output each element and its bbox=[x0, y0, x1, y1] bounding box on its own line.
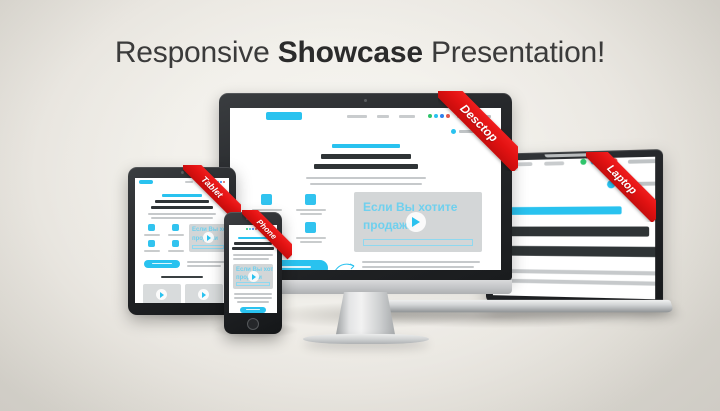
device-phone[interactable]: Если Вы хотите продажи Phone bbox=[224, 212, 282, 334]
nav-item[interactable] bbox=[204, 181, 210, 183]
hero-subtext bbox=[148, 213, 216, 215]
feature-icon-pencil bbox=[305, 222, 316, 233]
cta-note-line bbox=[237, 301, 269, 303]
cta-note-line bbox=[362, 261, 480, 263]
hero-line3 bbox=[493, 245, 655, 257]
feature-icon bbox=[148, 240, 155, 247]
hero-line2 bbox=[321, 154, 411, 159]
hero-line3 bbox=[151, 206, 213, 209]
social-icon[interactable] bbox=[223, 181, 225, 183]
social-icon-tw[interactable] bbox=[434, 114, 438, 118]
site-email bbox=[459, 130, 491, 133]
video-placeholder[interactable]: Если Вы хотите продажи bbox=[354, 192, 482, 252]
cta-button[interactable] bbox=[144, 260, 180, 268]
social-icon[interactable] bbox=[249, 228, 251, 230]
presentation-canvas: Responsive Showcase Presentation! bbox=[0, 0, 720, 411]
nav-item[interactable] bbox=[544, 160, 564, 164]
feature-caption bbox=[296, 237, 326, 239]
work-card[interactable] bbox=[143, 284, 181, 303]
webcam-icon bbox=[364, 99, 367, 102]
tablet-body: Если Вы хотите продажи bbox=[128, 167, 236, 315]
cta-note-line bbox=[187, 261, 225, 263]
nav-item[interactable] bbox=[196, 181, 201, 183]
imac-stand-foot bbox=[303, 334, 429, 344]
hero-subtext bbox=[233, 258, 269, 260]
video-placeholder[interactable]: Если Вы хотите продажи bbox=[233, 264, 273, 289]
hero-subtext-line bbox=[310, 183, 422, 185]
hero-line2 bbox=[155, 200, 209, 203]
cta-note-line bbox=[234, 297, 272, 299]
phone-body: Если Вы хотите продажи bbox=[224, 212, 282, 334]
cta-button[interactable] bbox=[240, 307, 266, 313]
social-icon-fb[interactable] bbox=[440, 114, 444, 118]
page-title: Responsive Showcase Presentation! bbox=[0, 36, 720, 70]
earpiece-speaker bbox=[246, 218, 260, 220]
hero-line2 bbox=[493, 226, 649, 236]
mail-icon bbox=[607, 180, 615, 188]
social-icon[interactable] bbox=[214, 181, 216, 183]
nav-item[interactable] bbox=[517, 161, 533, 165]
video-progress-bar[interactable] bbox=[363, 239, 473, 246]
imac-stand-neck bbox=[336, 292, 396, 337]
play-icon[interactable] bbox=[156, 289, 167, 300]
hero-line1 bbox=[162, 194, 202, 197]
website-tablet: Если Вы хотите продажи bbox=[135, 178, 229, 303]
social-icon[interactable] bbox=[246, 228, 248, 230]
feature-caption bbox=[300, 213, 322, 215]
cta-note-line bbox=[362, 266, 474, 268]
site-phone-number bbox=[457, 115, 491, 118]
hero-subtext bbox=[151, 217, 213, 219]
cta-note-line bbox=[187, 265, 221, 267]
feature-icon-document bbox=[261, 194, 272, 205]
home-button[interactable] bbox=[247, 318, 259, 330]
hero-line2 bbox=[234, 242, 272, 245]
site-logo[interactable] bbox=[266, 112, 302, 120]
video-progress-bar[interactable] bbox=[236, 282, 270, 286]
feature-caption bbox=[252, 209, 282, 211]
play-icon[interactable] bbox=[198, 289, 209, 300]
feature-icon-bulb bbox=[305, 194, 316, 205]
nav-item[interactable] bbox=[185, 181, 193, 183]
website-phone: Если Вы хотите продажи bbox=[229, 225, 277, 313]
feature-icon bbox=[172, 240, 179, 247]
hero-subtext bbox=[493, 268, 655, 276]
hero-line3 bbox=[232, 247, 274, 250]
social-icon[interactable] bbox=[255, 228, 257, 230]
laptop-screen[interactable]: Если Вы хотите продажи bbox=[493, 157, 655, 300]
social-icon-vk[interactable] bbox=[428, 114, 432, 118]
hero-line3 bbox=[314, 164, 418, 169]
laptop-notch bbox=[545, 153, 600, 158]
social-icon[interactable] bbox=[591, 158, 597, 164]
tablet-screen[interactable]: Если Вы хотите продажи bbox=[135, 178, 229, 303]
feature-caption bbox=[300, 241, 322, 243]
work-card[interactable] bbox=[185, 284, 223, 303]
feature-caption bbox=[168, 234, 184, 236]
device-tablet[interactable]: Если Вы хотите продажи bbox=[128, 167, 236, 315]
feature-caption bbox=[296, 209, 326, 211]
mail-icon bbox=[451, 129, 456, 134]
nav-item-works[interactable] bbox=[347, 115, 367, 118]
video-placeholder[interactable]: Если Вы хотите продажи bbox=[189, 224, 227, 252]
video-progress-bar[interactable] bbox=[192, 245, 224, 249]
section-title bbox=[161, 276, 203, 278]
feature-caption bbox=[144, 250, 160, 252]
title-prefix: Responsive bbox=[115, 36, 278, 69]
feature-caption bbox=[168, 250, 184, 252]
laptop-lid: Если Вы хотите продажи bbox=[486, 149, 663, 307]
site-email bbox=[620, 181, 656, 186]
device-laptop[interactable]: Если Вы хотите продажи Laptop bbox=[486, 154, 668, 319]
feature-icon bbox=[172, 224, 179, 231]
hero-subtext-line bbox=[306, 177, 426, 179]
nav-item-services[interactable] bbox=[377, 115, 389, 118]
phone-screen[interactable]: Если Вы хотите продажи bbox=[229, 225, 277, 313]
play-icon[interactable] bbox=[203, 232, 214, 243]
hero-line1 bbox=[332, 144, 400, 148]
hero-subtext bbox=[493, 277, 655, 286]
play-icon[interactable] bbox=[248, 271, 259, 282]
hero-line1 bbox=[493, 206, 622, 215]
social-icon[interactable] bbox=[611, 158, 617, 164]
hero-subtext bbox=[233, 254, 273, 256]
social-icon-gp[interactable] bbox=[446, 114, 450, 118]
feature-icon bbox=[148, 224, 155, 231]
nav-item-contacts[interactable] bbox=[399, 115, 415, 118]
social-icon[interactable] bbox=[252, 228, 254, 230]
social-icon[interactable] bbox=[217, 181, 219, 183]
webcam-icon bbox=[181, 171, 184, 174]
title-emphasis: Showcase bbox=[278, 36, 423, 69]
website-laptop: Если Вы хотите продажи bbox=[493, 157, 655, 300]
cta-note-line bbox=[234, 293, 272, 295]
curved-arrow-icon bbox=[334, 260, 356, 270]
hero-line1 bbox=[238, 237, 268, 239]
play-icon[interactable] bbox=[406, 212, 426, 232]
site-phone-number bbox=[628, 157, 655, 162]
video-line1: Если Вы хотите bbox=[363, 200, 457, 214]
feature-caption bbox=[144, 234, 160, 236]
title-suffix: Presentation! bbox=[423, 36, 605, 69]
social-icon[interactable] bbox=[580, 159, 586, 165]
social-icon[interactable] bbox=[220, 181, 222, 183]
social-icon[interactable] bbox=[601, 158, 607, 164]
site-logo[interactable] bbox=[139, 180, 153, 184]
